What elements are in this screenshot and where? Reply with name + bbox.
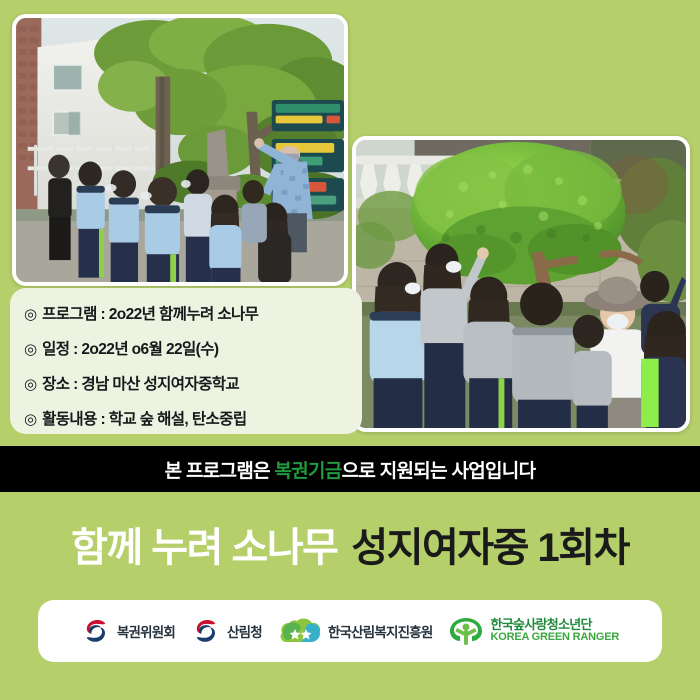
sponsor-logo-bar: 복권위원회 산림청 한국산림복지진흥원 bbox=[38, 600, 662, 662]
promo-card: ◎ 프로그램 : 2o22년 함께누려 소나무 ◎ 일정 : 2o22년 o6월… bbox=[0, 0, 700, 700]
logo-label-forest-welfare: 한국산림복지진흥원 bbox=[328, 621, 433, 641]
bullet-icon: ◎ bbox=[24, 335, 37, 365]
taegeuk-icon bbox=[191, 616, 221, 646]
page-title-main: 함께 누려 소나무 bbox=[71, 515, 337, 573]
logo-item-sanrimcheong: 산림청 bbox=[191, 616, 262, 646]
tree-person-icon bbox=[448, 615, 484, 647]
info-text-schedule: 일정 : 2o22년 o6월 22일(수) bbox=[42, 335, 218, 365]
page-title-sub: 성지여자중 1회차 bbox=[351, 515, 628, 573]
info-row-program: ◎ 프로그램 : 2o22년 함께누려 소나무 bbox=[24, 300, 362, 332]
logo-item-forest-welfare: 한국산림복지진흥원 bbox=[278, 615, 433, 647]
taegeuk-icon bbox=[81, 616, 111, 646]
logo-item-green-ranger: 한국숲사랑청소년단 KOREA GREEN RANGER bbox=[448, 615, 619, 647]
info-row-schedule: ◎ 일정 : 2o22년 o6월 22일(수) bbox=[24, 335, 362, 367]
logo-label-green-ranger-ko: 한국숲사랑청소년단 bbox=[490, 618, 619, 632]
program-info-panel: ◎ 프로그램 : 2o22년 함께누려 소나무 ◎ 일정 : 2o22년 o6월… bbox=[10, 288, 362, 434]
info-row-location: ◎ 장소 : 경남 마산 성지여자중학교 bbox=[24, 370, 362, 402]
bullet-icon: ◎ bbox=[24, 370, 37, 400]
logo-label-green-ranger-en: KOREA GREEN RANGER bbox=[490, 632, 619, 644]
cloud-star-icon bbox=[278, 615, 322, 647]
logo-item-bokgwon: 복권위원회 bbox=[81, 616, 175, 646]
photo-students-tree-signboard bbox=[12, 14, 348, 286]
banner-highlight: 복권기금 bbox=[274, 461, 341, 482]
lottery-fund-banner: 본 프로그램은 복권기금으로 지원되는 사업입니다 bbox=[0, 446, 700, 492]
info-text-activity: 활동내용 : 학교 숲 해설, 탄소중립 bbox=[42, 405, 246, 435]
info-row-activity: ◎ 활동내용 : 학교 숲 해설, 탄소중립 bbox=[24, 405, 362, 437]
logo-label-sanrimcheong: 산림청 bbox=[227, 621, 262, 641]
photo-2-illustration bbox=[356, 140, 686, 429]
bullet-icon: ◎ bbox=[24, 405, 37, 435]
photo-1-illustration bbox=[16, 18, 344, 284]
info-text-program: 프로그램 : 2o22년 함께누려 소나무 bbox=[42, 300, 258, 330]
bullet-icon: ◎ bbox=[24, 300, 37, 330]
page-title: 함께 누려 소나무 성지여자중 1회차 bbox=[0, 498, 700, 590]
lottery-fund-banner-text: 본 프로그램은 복권기금으로 지원되는 사업입니다 bbox=[165, 456, 536, 483]
banner-prefix: 본 프로그램은 bbox=[165, 461, 275, 482]
logo-label-bokgwon: 복권위원회 bbox=[117, 621, 175, 641]
info-text-location: 장소 : 경남 마산 성지여자중학교 bbox=[42, 370, 239, 400]
photo-students-topiary bbox=[352, 136, 690, 432]
banner-suffix: 으로 지원되는 사업입니다 bbox=[342, 461, 536, 482]
logo-label-green-ranger: 한국숲사랑청소년단 KOREA GREEN RANGER bbox=[490, 618, 619, 644]
